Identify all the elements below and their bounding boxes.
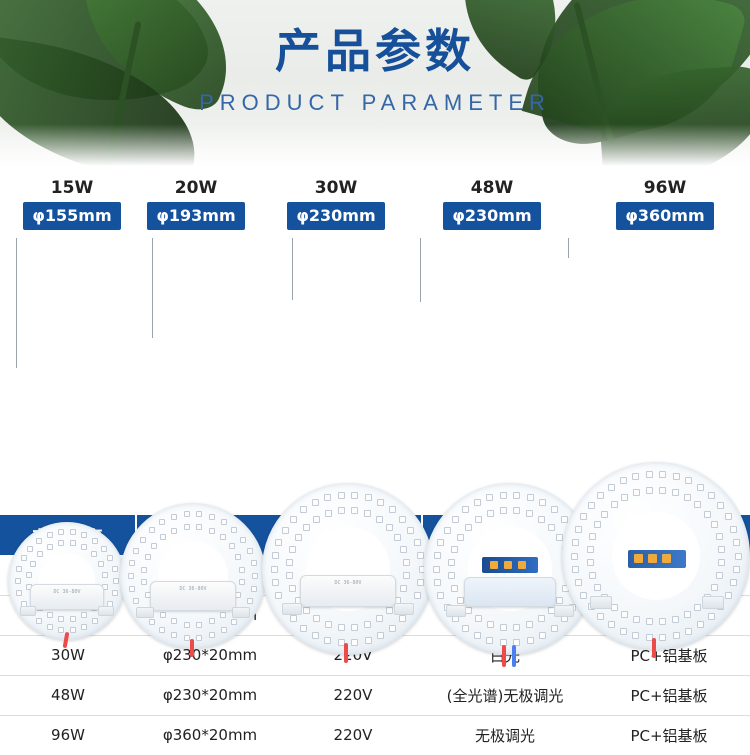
led-chip-icon xyxy=(240,537,246,543)
led-chip-icon xyxy=(704,511,711,518)
led-chip-icon xyxy=(621,494,628,501)
table-cell: 无极调光 xyxy=(422,715,588,755)
led-chip-icon xyxy=(475,615,482,622)
led-chip-icon xyxy=(444,527,451,534)
table-cell: 96W xyxy=(0,715,136,755)
led-chip-icon xyxy=(538,615,545,622)
led-chip-icon xyxy=(196,524,202,530)
led-chip-icon xyxy=(539,632,546,639)
led-chip-icon xyxy=(47,532,53,538)
led-chip-icon xyxy=(247,598,253,604)
led-chip-icon xyxy=(685,477,692,484)
product-ring-30w: DC 36-80V xyxy=(262,483,434,655)
led-chip-icon xyxy=(685,628,692,635)
table-cell: 220V xyxy=(284,715,422,755)
led-chip-icon xyxy=(403,559,410,566)
led-chip-icon xyxy=(303,524,310,531)
led-chip-icon xyxy=(102,572,108,578)
led-chip-icon xyxy=(414,592,421,599)
led-chip-icon xyxy=(92,618,98,624)
led-chip-icon xyxy=(434,552,441,559)
led-chip-icon xyxy=(159,519,165,525)
led-chip-icon xyxy=(286,572,293,579)
led-chip-icon xyxy=(184,511,190,517)
led-chip-icon xyxy=(70,529,76,535)
showcase-label-48w: 48W φ230mm xyxy=(432,178,552,230)
led-chip-icon xyxy=(684,611,691,618)
led-chip-icon xyxy=(325,510,332,517)
led-chip-icon xyxy=(659,471,666,478)
led-chip-icon xyxy=(718,546,725,553)
led-chip-icon xyxy=(58,627,64,633)
led-chip-icon xyxy=(694,501,701,508)
led-chip-icon xyxy=(462,625,469,632)
led-chip-icon xyxy=(684,494,691,501)
led-chip-icon xyxy=(527,494,534,501)
table-row: 96W φ360*20mm 220V 无极调光 PC+铝基板 xyxy=(0,715,750,755)
led-chip-icon xyxy=(448,572,455,579)
led-chip-icon xyxy=(457,597,464,604)
led-chip-icon xyxy=(377,499,384,506)
header-banner: 产品参数 PRODUCT PARAMETER xyxy=(0,0,750,170)
led-chip-icon xyxy=(81,532,87,538)
led-chip-icon xyxy=(462,506,469,513)
led-chip-icon xyxy=(448,559,455,566)
led-chip-icon xyxy=(580,592,587,599)
led-chip-icon xyxy=(725,513,732,520)
led-chip-icon xyxy=(338,492,345,499)
table-cell: PC+铝基板 xyxy=(588,675,750,715)
led-chip-icon xyxy=(289,546,296,553)
led-chip-icon xyxy=(312,632,319,639)
led-chip-icon xyxy=(400,585,407,592)
table-cell: 30W xyxy=(0,635,136,675)
led-chip-icon xyxy=(465,524,472,531)
led-chip-icon xyxy=(377,632,384,639)
led-chip-icon xyxy=(184,622,190,628)
led-chip-icon xyxy=(716,533,723,540)
led-chip-icon xyxy=(659,618,666,625)
led-chip-icon xyxy=(672,616,679,623)
label-diameter: φ360mm xyxy=(616,202,713,230)
led-chip-icon xyxy=(587,546,594,553)
page-subtitle: PRODUCT PARAMETER xyxy=(0,90,750,116)
led-chip-icon xyxy=(140,537,146,543)
led-chip-icon xyxy=(235,554,241,560)
led-chip-icon xyxy=(548,524,555,531)
led-chip-icon xyxy=(209,632,215,638)
led-chip-icon xyxy=(171,618,177,624)
led-chip-icon xyxy=(673,632,680,639)
leader-line xyxy=(292,238,293,300)
led-chip-icon xyxy=(399,615,406,622)
led-chip-icon xyxy=(389,625,396,632)
page-title: 产品参数 xyxy=(0,24,750,78)
label-watt: 30W xyxy=(276,178,396,198)
led-chip-icon xyxy=(620,628,627,635)
led-chip-icon xyxy=(159,627,165,633)
led-chip-icon xyxy=(151,543,157,549)
led-chip-icon xyxy=(697,621,704,628)
led-chip-icon xyxy=(239,579,245,585)
led-chip-icon xyxy=(632,473,639,480)
led-chip-icon xyxy=(112,590,118,596)
led-chip-icon xyxy=(735,553,742,560)
led-chip-icon xyxy=(81,544,87,550)
led-chip-icon xyxy=(300,625,307,632)
led-chip-icon xyxy=(500,624,507,631)
led-chip-icon xyxy=(70,540,76,546)
led-chip-icon xyxy=(231,619,237,625)
led-chip-icon xyxy=(290,516,297,523)
led-chip-icon xyxy=(128,573,134,579)
led-chip-icon xyxy=(646,618,653,625)
led-chip-icon xyxy=(36,538,42,544)
led-chip-icon xyxy=(221,519,227,525)
label-watt: 96W xyxy=(605,178,725,198)
showcase-label-96w: 96W φ360mm xyxy=(605,178,725,230)
led-chip-icon xyxy=(389,506,396,513)
led-chip-icon xyxy=(486,494,493,501)
led-chip-icon xyxy=(70,616,76,622)
led-chip-icon xyxy=(571,553,578,560)
showcase-label-30w: 30W φ230mm xyxy=(276,178,396,230)
led-chip-icon xyxy=(282,527,289,534)
led-chip-icon xyxy=(325,621,332,628)
led-chip-icon xyxy=(209,528,215,534)
driver-label: DC 36-80V xyxy=(301,580,395,586)
led-chip-icon xyxy=(365,494,372,501)
led-chip-icon xyxy=(673,473,680,480)
led-chip-icon xyxy=(113,578,119,584)
led-chip-icon xyxy=(290,615,297,622)
led-chip-icon xyxy=(27,546,33,552)
led-chip-icon xyxy=(730,526,737,533)
led-chip-icon xyxy=(141,579,147,585)
led-chip-icon xyxy=(101,546,107,552)
led-chip-icon xyxy=(475,516,482,523)
led-chip-icon xyxy=(621,611,628,618)
led-chip-icon xyxy=(133,548,139,554)
led-chip-icon xyxy=(513,492,520,499)
led-chip-icon xyxy=(196,635,202,641)
led-chip-icon xyxy=(229,543,235,549)
led-chip-icon xyxy=(351,492,358,499)
led-chip-icon xyxy=(414,539,421,546)
table-cell: φ360*20mm xyxy=(136,715,284,755)
led-chip-icon xyxy=(196,511,202,517)
led-chip-icon xyxy=(594,521,601,528)
led-chip-icon xyxy=(364,510,371,517)
led-chip-icon xyxy=(324,494,331,501)
led-chip-icon xyxy=(47,612,53,618)
led-chip-icon xyxy=(129,586,135,592)
led-chip-icon xyxy=(184,524,190,530)
led-chip-icon xyxy=(452,516,459,523)
product-ring-20w: DC 36-80V xyxy=(120,503,266,649)
led-chip-icon xyxy=(527,637,534,644)
led-chip-icon xyxy=(141,567,147,573)
led-chip-icon xyxy=(394,534,401,541)
label-watt: 15W xyxy=(12,178,132,198)
led-chip-icon xyxy=(551,506,558,513)
product-showcase: 15W φ155mm 20W φ193mm 30W φ230mm 48W φ23… xyxy=(0,170,750,515)
led-chip-icon xyxy=(694,604,701,611)
led-chip-icon xyxy=(47,544,53,550)
label-diameter: φ230mm xyxy=(443,202,540,230)
led-chip-icon xyxy=(36,618,42,624)
led-chip-icon xyxy=(597,613,604,620)
led-chip-icon xyxy=(620,477,627,484)
led-chip-icon xyxy=(474,499,481,506)
led-chip-icon xyxy=(457,534,464,541)
led-chip-icon xyxy=(403,572,410,579)
led-chip-icon xyxy=(303,607,310,614)
led-chip-icon xyxy=(486,637,493,644)
led-chip-icon xyxy=(608,484,615,491)
table-cell: (全光谱)无极调光 xyxy=(422,675,588,715)
led-chip-icon xyxy=(300,506,307,513)
led-chip-icon xyxy=(239,567,245,573)
led-chip-icon xyxy=(26,572,32,578)
led-chip-icon xyxy=(407,527,414,534)
led-chip-icon xyxy=(572,566,579,573)
led-chip-icon xyxy=(351,507,358,514)
led-chip-icon xyxy=(160,534,166,540)
led-chip-icon xyxy=(289,585,296,592)
led-chip-icon xyxy=(646,471,653,478)
led-chip-icon xyxy=(708,613,715,620)
led-chip-icon xyxy=(580,513,587,520)
led-chip-icon xyxy=(539,499,546,506)
led-chip-icon xyxy=(21,555,27,561)
led-chip-icon xyxy=(500,492,507,499)
led-chip-icon xyxy=(338,507,345,514)
led-chip-icon xyxy=(252,573,258,579)
led-chip-icon xyxy=(376,516,383,523)
led-chip-icon xyxy=(107,555,113,561)
led-chip-icon xyxy=(220,534,226,540)
leader-line xyxy=(420,238,421,302)
led-chip-icon xyxy=(633,489,640,496)
led-chip-icon xyxy=(601,511,608,518)
led-chip-icon xyxy=(594,584,601,591)
led-chip-icon xyxy=(58,616,64,622)
led-chip-icon xyxy=(149,527,155,533)
led-chip-icon xyxy=(47,624,53,630)
led-chip-icon xyxy=(15,578,21,584)
led-chip-icon xyxy=(633,616,640,623)
led-chip-icon xyxy=(575,526,582,533)
led-chip-icon xyxy=(659,487,666,494)
led-chip-icon xyxy=(646,487,653,494)
banner-fade-overlay xyxy=(0,124,750,170)
led-chip-icon xyxy=(513,507,520,514)
led-chip-icon xyxy=(400,546,407,553)
led-chip-icon xyxy=(725,592,732,599)
led-chip-icon xyxy=(526,510,533,517)
led-chip-icon xyxy=(171,514,177,520)
led-chip-icon xyxy=(717,502,724,509)
led-chip-icon xyxy=(275,592,282,599)
label-diameter: φ155mm xyxy=(23,202,120,230)
led-chip-icon xyxy=(526,621,533,628)
led-chip-icon xyxy=(672,489,679,496)
led-chip-icon xyxy=(30,561,36,567)
led-chip-icon xyxy=(58,529,64,535)
led-chip-icon xyxy=(129,560,135,566)
led-chip-icon xyxy=(16,566,22,572)
led-chip-icon xyxy=(81,624,87,630)
label-diameter: φ193mm xyxy=(147,202,244,230)
table-cell: 48W xyxy=(0,675,136,715)
led-chip-icon xyxy=(538,516,545,523)
led-chip-icon xyxy=(697,484,704,491)
led-chip-icon xyxy=(160,612,166,618)
led-chip-icon xyxy=(730,579,737,586)
label-diameter: φ230mm xyxy=(287,202,384,230)
led-chip-icon xyxy=(92,538,98,544)
led-chip-icon xyxy=(572,539,579,546)
led-chip-icon xyxy=(551,625,558,632)
led-chip-icon xyxy=(487,621,494,628)
led-chip-icon xyxy=(711,521,718,528)
label-watt: 48W xyxy=(432,178,552,198)
label-watt: 20W xyxy=(136,178,256,198)
led-chip-icon xyxy=(91,551,97,557)
led-chip-icon xyxy=(632,632,639,639)
led-chip-icon xyxy=(589,533,596,540)
led-chip-icon xyxy=(221,627,227,633)
led-chip-icon xyxy=(171,528,177,534)
led-chip-icon xyxy=(386,524,393,531)
driver-label: DC 36-80V xyxy=(31,589,103,595)
led-chip-icon xyxy=(708,492,715,499)
led-chip-icon xyxy=(575,579,582,586)
showcase-labels: 15W φ155mm 20W φ193mm 30W φ230mm 48W φ23… xyxy=(0,170,750,238)
led-chip-icon xyxy=(112,566,118,572)
led-chip-icon xyxy=(451,546,458,553)
led-chip-icon xyxy=(37,551,43,557)
led-chip-icon xyxy=(275,539,282,546)
led-chip-icon xyxy=(209,618,215,624)
led-chip-icon xyxy=(733,566,740,573)
led-chip-icon xyxy=(487,510,494,517)
led-chip-icon xyxy=(434,579,441,586)
led-chip-icon xyxy=(386,607,393,614)
led-chip-icon xyxy=(376,615,383,622)
led-chip-icon xyxy=(659,634,666,641)
table-cell: 220V xyxy=(284,675,422,715)
led-chip-icon xyxy=(295,534,302,541)
led-chip-icon xyxy=(272,552,279,559)
led-chip-icon xyxy=(209,514,215,520)
led-chip-icon xyxy=(231,527,237,533)
led-chip-icon xyxy=(589,572,596,579)
product-ring-15w: DC 36-80V xyxy=(8,522,126,640)
led-chip-icon xyxy=(597,492,604,499)
led-chip-icon xyxy=(271,566,278,573)
led-chip-icon xyxy=(587,559,594,566)
showcase-label-15w: 15W φ155mm xyxy=(12,178,132,230)
led-chip-icon xyxy=(251,586,257,592)
led-chip-icon xyxy=(399,516,406,523)
led-chip-icon xyxy=(58,540,64,546)
led-chip-icon xyxy=(98,561,104,567)
banner-text-block: 产品参数 PRODUCT PARAMETER xyxy=(0,24,750,116)
led-chip-icon xyxy=(247,548,253,554)
led-chip-icon xyxy=(312,499,319,506)
led-chip-icon xyxy=(351,624,358,631)
led-chip-icon xyxy=(145,554,151,560)
led-chip-icon xyxy=(513,624,520,631)
led-chip-icon xyxy=(16,590,22,596)
showcase-label-20w: 20W φ193mm xyxy=(136,178,256,230)
table-cell: PC+铝基板 xyxy=(588,715,750,755)
led-chip-icon xyxy=(196,622,202,628)
led-chip-icon xyxy=(365,637,372,644)
led-chip-icon xyxy=(272,579,279,586)
led-chip-icon xyxy=(251,560,257,566)
leader-line xyxy=(152,238,153,338)
led-chip-icon xyxy=(149,619,155,625)
leader-line xyxy=(568,238,569,258)
leader-line xyxy=(16,238,17,368)
led-chip-icon xyxy=(220,612,226,618)
led-chip-icon xyxy=(716,572,723,579)
led-chip-icon xyxy=(81,612,87,618)
led-chip-icon xyxy=(433,566,440,573)
table-cell: φ230*20mm xyxy=(136,675,284,715)
led-chip-icon xyxy=(718,559,725,566)
led-chip-icon xyxy=(611,501,618,508)
led-chip-icon xyxy=(474,632,481,639)
led-chip-icon xyxy=(711,584,718,591)
led-chip-icon xyxy=(500,507,507,514)
led-chip-icon xyxy=(451,585,458,592)
led-chip-icon xyxy=(733,539,740,546)
driver-label: DC 36-80V xyxy=(151,586,235,592)
table-row: 48W φ230*20mm 220V (全光谱)无极调光 PC+铝基板 xyxy=(0,675,750,715)
led-chip-icon xyxy=(324,637,331,644)
led-chip-icon xyxy=(133,598,139,604)
page-root: 产品参数 PRODUCT PARAMETER 15W φ155mm 20W φ1… xyxy=(0,0,750,753)
led-chip-icon xyxy=(313,516,320,523)
led-chip-icon xyxy=(184,635,190,641)
led-chip-icon xyxy=(313,615,320,622)
led-chip-icon xyxy=(171,632,177,638)
product-ring-96w xyxy=(562,462,750,650)
led-chip-icon xyxy=(286,559,293,566)
led-chip-icon xyxy=(364,621,371,628)
led-chip-icon xyxy=(588,502,595,509)
led-chip-icon xyxy=(608,621,615,628)
led-chip-icon xyxy=(70,627,76,633)
led-chip-icon xyxy=(235,592,241,598)
led-chip-icon xyxy=(437,592,444,599)
led-chip-icon xyxy=(338,624,345,631)
led-chip-icon xyxy=(351,639,358,646)
led-chip-icon xyxy=(437,539,444,546)
